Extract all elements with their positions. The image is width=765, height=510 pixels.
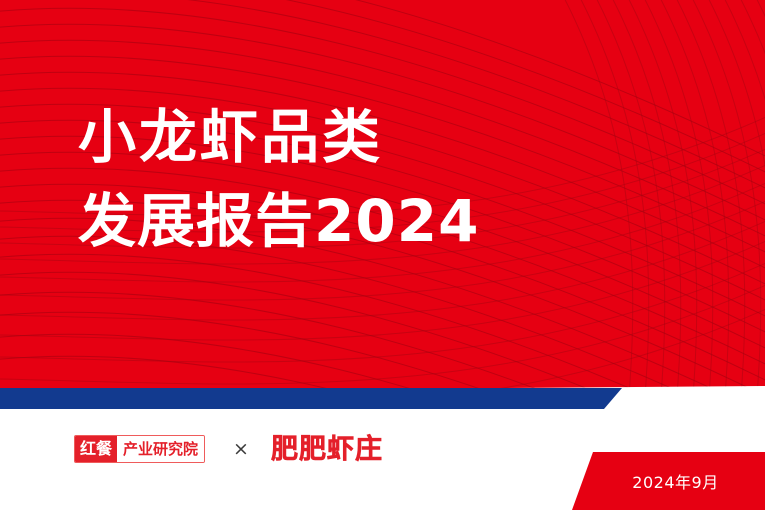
hero-red-background: 小龙虾品类 发展报告2024	[0, 0, 765, 392]
title-line-2: 发展报告2024	[78, 179, 479, 263]
date-badge-label: 2024年9月	[572, 469, 765, 493]
blue-accent-stripe	[0, 388, 622, 409]
page-title: 小龙虾品类 发展报告2024	[78, 95, 479, 263]
publisher-logo-badge[interactable]: 红餐 产业研究院	[74, 435, 205, 463]
publisher-name-label: 产业研究院	[117, 436, 204, 462]
publisher-mark-label: 红餐	[75, 436, 117, 462]
date-badge: 2024年9月	[572, 452, 765, 510]
title-line-1: 小龙虾品类	[78, 95, 479, 179]
report-cover: 小龙虾品类 发展报告2024 红餐 产业研究院 × 肥肥虾庄 2024年9月	[0, 0, 765, 510]
cross-separator-icon: ×	[233, 440, 249, 459]
partner-logo-label[interactable]: 肥肥虾庄	[271, 436, 383, 463]
brand-row: 红餐 产业研究院 × 肥肥虾庄	[74, 435, 383, 463]
